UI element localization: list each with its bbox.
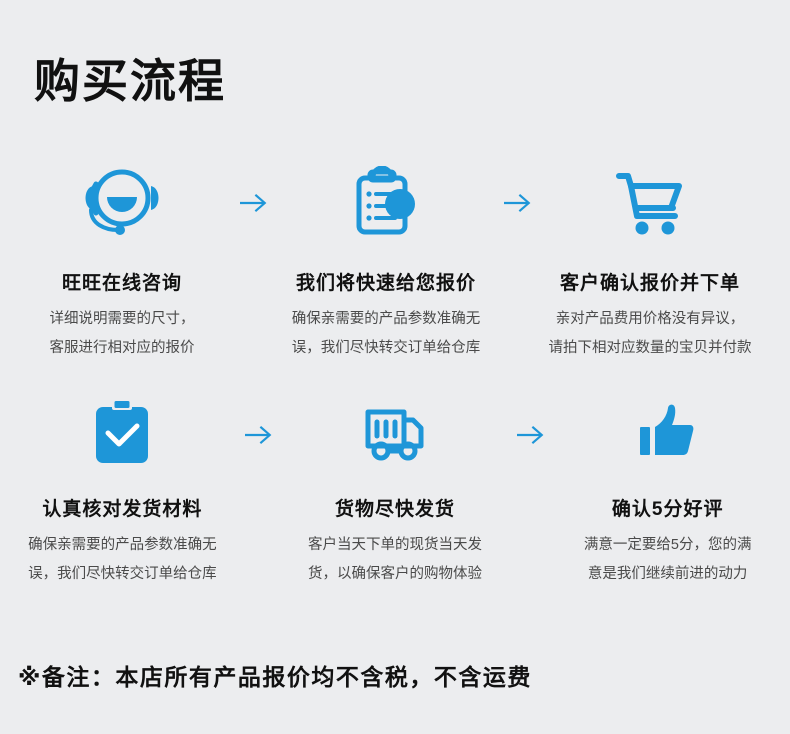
step-description: 确保亲需要的产品参数准确无 误，我们尽快转交订单给仓库 <box>292 305 481 363</box>
step-description: 详细说明需要的尺寸， 客服进行相对应的报价 <box>50 305 195 363</box>
steps-row-1: 旺旺在线咨询 详细说明需要的尺寸， 客服进行相对应的报价 <box>0 160 790 392</box>
step-desc-line: 客户当天下单的现货当天发 <box>308 531 482 560</box>
step-desc-line: 满意一定要给5分，您的满 <box>584 531 752 560</box>
step-description: 满意一定要给5分，您的满 意是我们继续前进的动力 <box>584 531 752 589</box>
headset-support-icon <box>79 160 165 246</box>
clipboard-check-icon <box>90 392 154 474</box>
step-desc-line: 误，我们尽快转交订单给仓库 <box>28 560 217 589</box>
step-desc-line: 详细说明需要的尺寸， <box>50 305 195 334</box>
step-item-6: 确认5分好评 满意一定要给5分，您的满 意是我们继续前进的动力 <box>545 392 790 589</box>
step-desc-line: 客服进行相对应的报价 <box>50 334 195 363</box>
step-item-1: 旺旺在线咨询 详细说明需要的尺寸， 客服进行相对应的报价 <box>0 160 244 363</box>
thumbs-up-icon <box>636 392 700 474</box>
step-description: 客户当天下单的现货当天发 货，以确保客户的购物体验 <box>308 531 482 589</box>
arrow-right-icon <box>245 392 273 478</box>
step-desc-line: 误，我们尽快转交订单给仓库 <box>292 334 481 363</box>
delivery-truck-icon <box>360 392 430 474</box>
step-item-2: 我们将快速给您报价 确保亲需要的产品参数准确无 误，我们尽快转交订单给仓库 <box>264 160 508 363</box>
step-title: 旺旺在线咨询 <box>62 268 182 295</box>
step-title: 我们将快速给您报价 <box>296 268 476 295</box>
step-desc-line: 确保亲需要的产品参数准确无 <box>292 305 481 334</box>
step-title: 认真核对发货材料 <box>42 494 202 521</box>
arrow-right-icon <box>517 392 545 478</box>
step-title: 客户确认报价并下单 <box>560 268 740 295</box>
step-desc-line: 意是我们继续前进的动力 <box>584 560 752 589</box>
page-title: 购买流程 <box>34 56 226 107</box>
step-description: 确保亲需要的产品参数准确无 误，我们尽快转交订单给仓库 <box>28 531 217 589</box>
step-desc-line: 请拍下相对应数量的宝贝并付款 <box>549 334 752 363</box>
step-item-3: 客户确认报价并下单 亲对产品费用价格没有异议， 请拍下相对应数量的宝贝并付款 <box>528 160 772 363</box>
step-desc-line: 货，以确保客户的购物体验 <box>308 560 482 589</box>
step-item-4: 认真核对发货材料 确保亲需要的产品参数准确无 误，我们尽快转交订单给仓库 <box>0 392 245 589</box>
step-description: 亲对产品费用价格没有异议， 请拍下相对应数量的宝贝并付款 <box>549 305 752 363</box>
steps-row-2: 认真核对发货材料 确保亲需要的产品参数准确无 误，我们尽快转交订单给仓库 <box>0 392 790 624</box>
footer-note: ※备注：本店所有产品报价均不含税，不含运费 <box>18 658 532 692</box>
step-title: 确认5分好评 <box>612 494 724 521</box>
step-title: 货物尽快发货 <box>335 494 455 521</box>
purchase-process-page: 购买流程 旺旺在线咨询 <box>0 0 790 734</box>
steps-container: 旺旺在线咨询 详细说明需要的尺寸， 客服进行相对应的报价 <box>0 160 790 624</box>
step-item-5: 货物尽快发货 客户当天下单的现货当天发 货，以确保客户的购物体验 <box>273 392 518 589</box>
step-desc-line: 确保亲需要的产品参数准确无 <box>28 531 217 560</box>
shopping-cart-icon <box>613 160 687 246</box>
step-desc-line: 亲对产品费用价格没有异议， <box>549 305 752 334</box>
clipboard-quote-icon <box>351 160 421 246</box>
